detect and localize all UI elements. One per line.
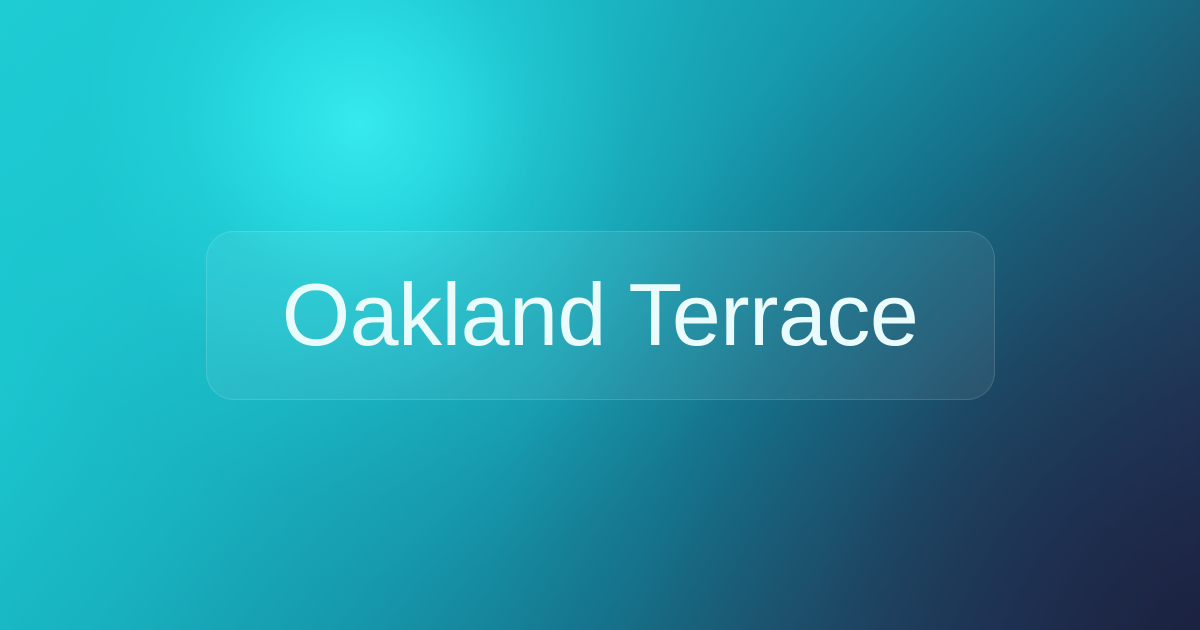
page-title: Oakland Terrace bbox=[282, 268, 919, 361]
og-image-canvas: Oakland Terrace bbox=[0, 0, 1200, 630]
title-card: Oakland Terrace bbox=[206, 231, 995, 400]
